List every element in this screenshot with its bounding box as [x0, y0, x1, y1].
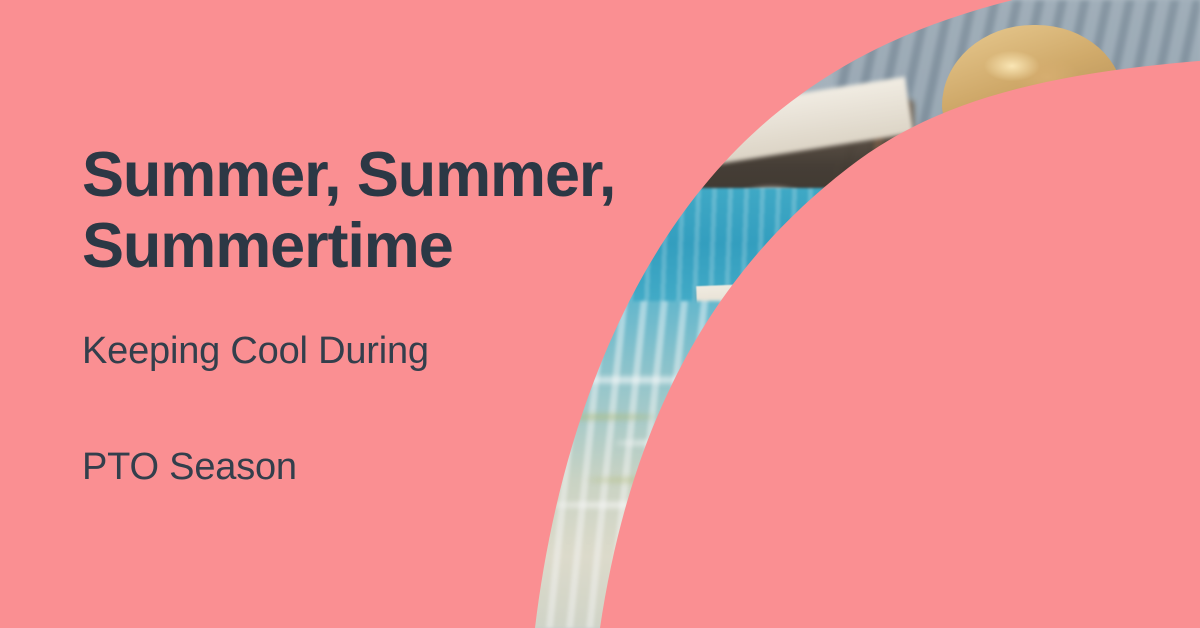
page-subtitle: Keeping Cool During PTO Season: [82, 323, 702, 496]
page-title: Summer, Summer, Summertime: [82, 140, 702, 281]
text-block: Summer, Summer, Summertime Keeping Cool …: [82, 140, 702, 496]
summer-pto-banner: Summer, Summer, Summertime Keeping Cool …: [0, 0, 1200, 628]
